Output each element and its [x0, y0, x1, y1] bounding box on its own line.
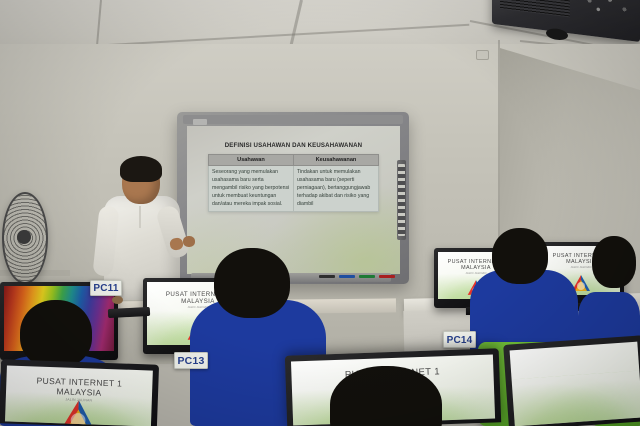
whiteboard-top-bar [183, 115, 403, 124]
column-header-usahawan: Usahawan [209, 155, 294, 166]
ac-grille [500, 0, 570, 17]
instructor-hair [120, 156, 162, 182]
column-header-keusahawanan: Keusahawanan [294, 155, 379, 166]
malaysia-logo-icon [54, 397, 103, 426]
triangle-logo-svg [54, 397, 103, 426]
cell-keusahawanan-definition: Tindakan untuk memulakan usahasama baru … [294, 166, 379, 212]
whiteboard-side-buttons[interactable] [398, 164, 405, 236]
pc-label-pc13: PC13 [174, 352, 208, 369]
student-head [20, 300, 92, 368]
pc-label-pc14: PC14 [443, 331, 476, 348]
marker-black-icon[interactable] [319, 275, 335, 279]
slide-definition-table: Usahawan Keusahawanan Seseorang yang mem… [208, 154, 379, 212]
presentation-slide: DEFINISI USAHAWAN DAN KEUSAHAWANAN Usaha… [195, 142, 392, 262]
instructor-hand [183, 236, 195, 247]
mouse-icon[interactable] [112, 296, 123, 304]
student-head [492, 228, 548, 284]
table-header-row: Usahawan Keusahawanan [209, 155, 379, 166]
student-head [214, 248, 290, 318]
ceiling-tile-seam [96, 0, 102, 50]
screensaver-swirl [512, 370, 640, 426]
marker-blue-icon[interactable] [339, 275, 355, 279]
student-head [592, 236, 636, 288]
cell-usahawan-definition: Seseorang yang memulakan usahasama baru … [209, 166, 294, 212]
monitor-screen [510, 342, 640, 426]
monitor-foreground-right[interactable] [503, 335, 640, 426]
interactive-whiteboard[interactable]: DEFINISI USAHAWAN DAN KEUSAHAWANAN Usaha… [177, 112, 409, 284]
screensaver-line2: MALAYSIA [461, 265, 491, 271]
screensaver-line3: JALIN JALINAN [465, 272, 486, 275]
classroom-scene: DEFINISI USAHAWAN DAN KEUSAHAWANAN Usaha… [0, 0, 640, 426]
instructor-shirt-placket [139, 206, 141, 228]
screensaver-line3: JALIN JALINAN [570, 266, 591, 269]
fan-hub [17, 230, 31, 244]
table-row: Seseorang yang memulakan usahasama baru … [209, 166, 379, 212]
whiteboard-brand-logo [193, 119, 207, 125]
ac-vent-detail [578, 0, 636, 20]
pc-label-pc11: PC11 [90, 280, 122, 296]
marker-green-icon[interactable] [359, 275, 375, 279]
projected-slide-screen: DEFINISI USAHAWAN DAN KEUSAHAWANAN Usaha… [187, 126, 400, 274]
marker-red-icon[interactable] [379, 275, 395, 279]
monitor-foreground-left[interactable]: PUSAT INTERNET 1 MALAYSIA JALIN JALINAN [0, 359, 159, 426]
monitor-screen: PUSAT INTERNET 1 MALAYSIA JALIN JALINAN [5, 365, 153, 426]
wall-socket-icon [476, 50, 489, 60]
slide-title: DEFINISI USAHAWAN DAN KEUSAHAWANAN [195, 142, 392, 149]
screensaver-line2: MALAYSIA [56, 386, 101, 398]
